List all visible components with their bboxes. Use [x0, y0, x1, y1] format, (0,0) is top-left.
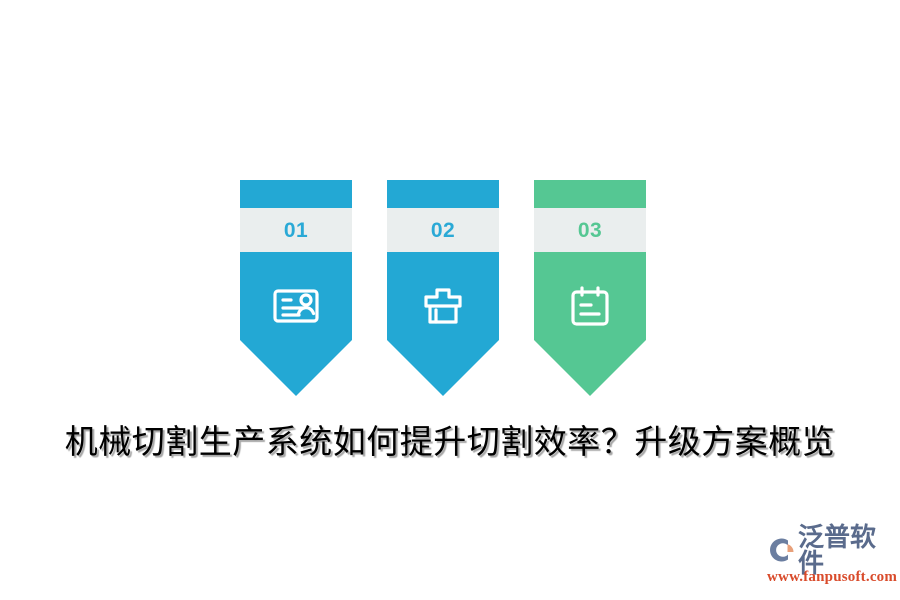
storefront-icon — [387, 276, 499, 336]
logo-row: 泛普软件 — [766, 533, 892, 566]
banner-number-band: 01 — [240, 208, 352, 252]
banner-group: 01 02 — [240, 180, 645, 396]
poster-canvas: 01 02 — [0, 0, 900, 600]
banner-item-02[interactable]: 02 — [387, 180, 498, 396]
notepad-calendar-icon — [534, 276, 646, 336]
banner-number-band: 02 — [387, 208, 499, 252]
watermark-logo: 泛普软件 www.fanpusoft.com — [766, 533, 892, 585]
brand-url: www.fanpusoft.com — [767, 570, 892, 585]
banner-number-band: 03 — [534, 208, 646, 252]
page-title: 机械切割生产系统如何提升切割效率？升级方案概览 — [0, 415, 900, 463]
banner-item-03[interactable]: 03 — [534, 180, 645, 396]
banner-number-label: 01 — [284, 220, 308, 241]
banner-number-label: 03 — [578, 220, 602, 241]
banner-item-01[interactable]: 01 — [240, 180, 351, 396]
fanpu-logo-mark — [766, 535, 796, 565]
brand-name: 泛普软件 — [798, 524, 892, 576]
banner-number-label: 02 — [431, 220, 455, 241]
id-card-icon — [240, 276, 352, 336]
